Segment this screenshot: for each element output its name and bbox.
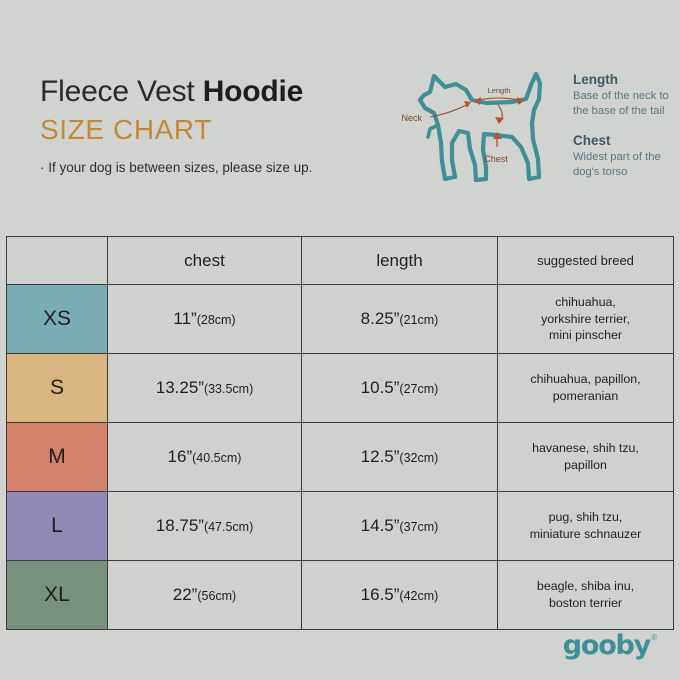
diagram-label-neck: Neck	[401, 113, 422, 123]
breed-line: havanese, shih tzu,	[498, 440, 673, 457]
length-inches: 12.5”	[361, 447, 400, 466]
size-cell-m: M	[7, 423, 108, 492]
breed-cell: havanese, shih tzu,papillon	[498, 423, 674, 492]
size-cell-xs: XS	[7, 285, 108, 354]
size-cell-l: L	[7, 492, 108, 561]
size-cell-xl: XL	[7, 561, 108, 630]
length-cell: 10.5”(27cm)	[302, 354, 498, 423]
table-row: XL22”(56cm)16.5”(42cm)beagle, shiba inu,…	[7, 561, 674, 630]
size-cell-s: S	[7, 354, 108, 423]
header-suggested-breed: suggested breed	[498, 237, 674, 285]
legend-desc-length: Base of the neck to the base of the tail	[573, 89, 678, 119]
legend-term-chest: Chest	[573, 133, 678, 148]
chest-centimeters: (40.5cm)	[192, 451, 241, 465]
title-light-part: Fleece Vest	[40, 75, 203, 108]
chest-cell: 13.25”(33.5cm)	[108, 354, 302, 423]
length-cell: 14.5”(37cm)	[302, 492, 498, 561]
dog-measurement-diagram: Length Neck Chest	[400, 55, 570, 190]
breed-cell: beagle, shiba inu,boston terrier	[498, 561, 674, 630]
breed-line: miniature schnauzer	[498, 526, 673, 543]
chest-cell: 18.75”(47.5cm)	[108, 492, 302, 561]
page-title: Fleece Vest Hoodie	[40, 76, 400, 108]
legend-item-length: Length Base of the neck to the base of t…	[573, 72, 678, 119]
measurement-legend: Length Base of the neck to the base of t…	[573, 72, 678, 194]
chest-inches: 11”	[173, 309, 196, 328]
length-cell: 16.5”(42cm)	[302, 561, 498, 630]
size-chart-table: chest length suggested breed XS11”(28cm)…	[6, 236, 674, 630]
chest-centimeters: (47.5cm)	[204, 520, 253, 534]
title-bold-part: Hoodie	[203, 75, 303, 108]
header-length: length	[302, 237, 498, 285]
breed-line: mini pinscher	[498, 327, 673, 344]
sizing-note: · If your dog is between sizes, please s…	[40, 160, 400, 175]
dog-outline-icon	[420, 74, 540, 180]
breed-line: chihuahua,	[498, 294, 673, 311]
breed-line: boston terrier	[498, 595, 673, 612]
length-centimeters: (21cm)	[399, 313, 438, 327]
length-centimeters: (42cm)	[399, 589, 438, 603]
diagram-label-chest: Chest	[484, 154, 508, 164]
chest-centimeters: (28cm)	[197, 313, 236, 327]
breed-cell: chihuahua, papillon,pomeranian	[498, 354, 674, 423]
registered-trademark-icon: ®	[651, 633, 657, 642]
legend-term-length: Length	[573, 72, 678, 87]
logo-wordmark: gooby	[563, 630, 650, 661]
breed-cell: pug, shih tzu,miniature schnauzer	[498, 492, 674, 561]
chest-inches: 13.25”	[156, 378, 204, 397]
title-block: Fleece Vest Hoodie SIZE CHART · If your …	[40, 76, 400, 175]
chest-cell: 16”(40.5cm)	[108, 423, 302, 492]
breed-line: papillon	[498, 457, 673, 474]
breed-line: yorkshire terrier,	[498, 311, 673, 328]
chest-inches: 22”	[173, 585, 198, 604]
breed-line: pomeranian	[498, 388, 673, 405]
length-centimeters: (27cm)	[399, 382, 438, 396]
chest-cell: 22”(56cm)	[108, 561, 302, 630]
length-inches: 14.5”	[361, 516, 400, 535]
length-inches: 16.5”	[361, 585, 400, 604]
chest-cell: 11”(28cm)	[108, 285, 302, 354]
table-row: XS11”(28cm)8.25”(21cm)chihuahua,yorkshir…	[7, 285, 674, 354]
chest-centimeters: (33.5cm)	[204, 382, 253, 396]
table-header: chest length suggested breed	[7, 237, 674, 285]
gooby-logo: gooby ®	[563, 630, 657, 661]
length-cell: 8.25”(21cm)	[302, 285, 498, 354]
header-chest: chest	[108, 237, 302, 285]
length-centimeters: (32cm)	[399, 451, 438, 465]
chest-inches: 16”	[168, 447, 193, 466]
table-header-row: chest length suggested breed	[7, 237, 674, 285]
breed-line: pug, shih tzu,	[498, 509, 673, 526]
chest-inches: 18.75”	[156, 516, 204, 535]
chest-centimeters: (56cm)	[197, 589, 236, 603]
table-row: S13.25”(33.5cm)10.5”(27cm)chihuahua, pap…	[7, 354, 674, 423]
table-row: M16”(40.5cm)12.5”(32cm)havanese, shih tz…	[7, 423, 674, 492]
dog-diagram-svg: Length Neck Chest	[400, 55, 570, 190]
header-section: Fleece Vest Hoodie SIZE CHART · If your …	[0, 0, 679, 236]
header-size	[7, 237, 108, 285]
length-inches: 8.25”	[361, 309, 400, 328]
table-row: L18.75”(47.5cm)14.5”(37cm)pug, shih tzu,…	[7, 492, 674, 561]
length-inches: 10.5”	[361, 378, 400, 397]
breed-line: beagle, shiba inu,	[498, 578, 673, 595]
diagram-label-length: Length	[488, 86, 511, 95]
length-cell: 12.5”(32cm)	[302, 423, 498, 492]
legend-item-chest: Chest Widest part of the dog's torso	[573, 133, 678, 180]
legend-desc-chest: Widest part of the dog's torso	[573, 150, 678, 180]
table-body: XS11”(28cm)8.25”(21cm)chihuahua,yorkshir…	[7, 285, 674, 630]
length-centimeters: (37cm)	[399, 520, 438, 534]
page-subtitle: SIZE CHART	[40, 114, 400, 146]
breed-line: chihuahua, papillon,	[498, 371, 673, 388]
breed-cell: chihuahua,yorkshire terrier,mini pinsche…	[498, 285, 674, 354]
chest-arrow-icon	[493, 105, 504, 147]
